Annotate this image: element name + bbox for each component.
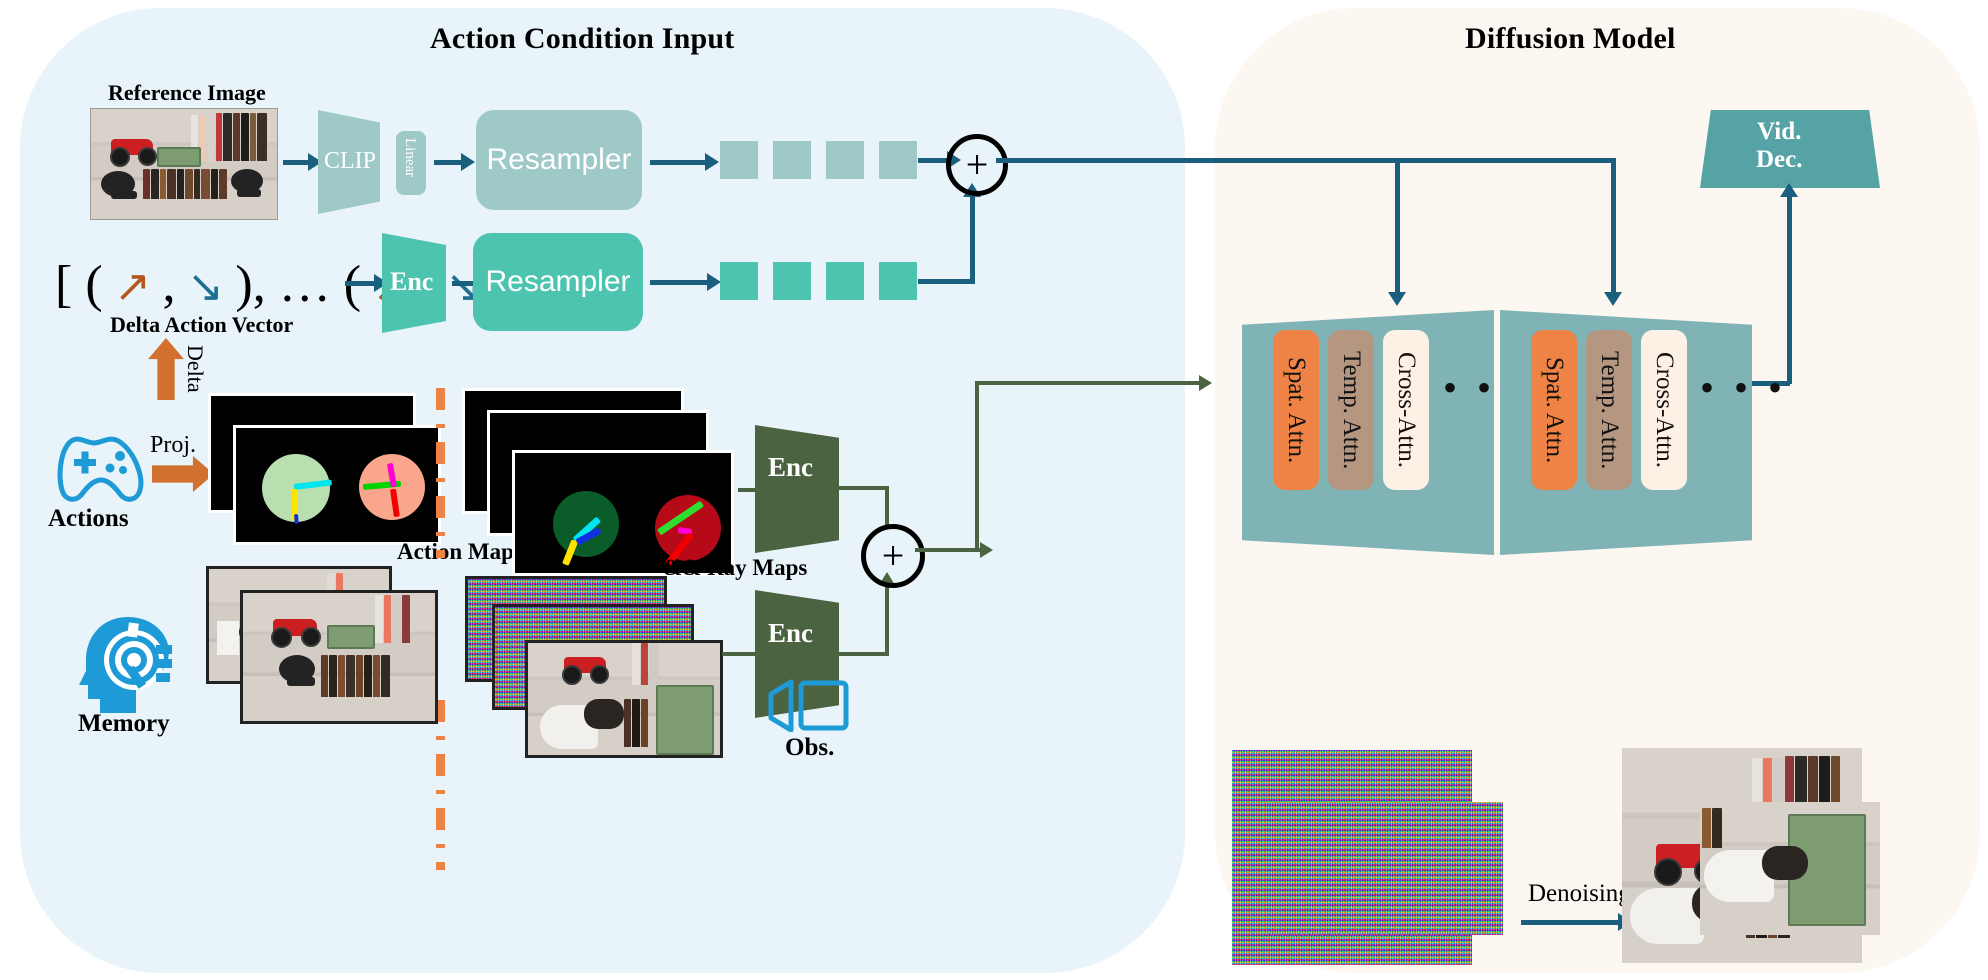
image-token-4 (879, 141, 917, 179)
attn-temporal-2: Temp. Attn. (1586, 330, 1632, 490)
denoise-input-front (1263, 802, 1503, 935)
attn-temporal-1: Temp. Attn. (1328, 330, 1374, 490)
line-raymapenc-down (885, 486, 889, 528)
line-obsenc-up (885, 628, 889, 656)
arrow-linear-to-resampler (434, 160, 462, 165)
sum-operator-top: + (946, 134, 1008, 196)
raymap-encoder-block (755, 425, 839, 553)
attn-cross-1: Cross-Attn. (1383, 330, 1429, 490)
action-token-2 (773, 262, 811, 300)
obs-label: Obs. (785, 734, 834, 762)
sum-operator-bottom: + (861, 524, 925, 588)
right-panel-title: Diffusion Model (1465, 22, 1676, 56)
arrow-refimage-to-clip (283, 160, 309, 165)
arrow-sum-bottom-to-unet (915, 548, 981, 552)
arrow-resampler-to-tokens-action (650, 280, 708, 285)
dashed-separator-top (436, 388, 445, 558)
image-token-1 (720, 141, 758, 179)
cond-bus-horizontal (996, 158, 1616, 163)
arrow-denoising (1521, 920, 1619, 925)
image-token-2 (773, 141, 811, 179)
action-token-3 (826, 262, 864, 300)
dashed-separator-bottom (436, 700, 445, 870)
unet-ellipsis-2: • • • (1700, 368, 1787, 408)
left-panel-title: Action Condition Input (430, 22, 735, 56)
video-decoder-line1: Vid. (1756, 118, 1803, 146)
enc-obs-label: Enc (768, 618, 813, 649)
arrow-to-unet-input (975, 381, 1200, 385)
obs-image-front (525, 640, 723, 758)
action-stick-left-blue (294, 514, 299, 524)
action-token-1 (720, 262, 758, 300)
clip-label: CLIP (324, 148, 376, 175)
arrow-vector-to-enc (345, 281, 375, 286)
arrow-cond-to-crossattn-2 (1611, 163, 1616, 293)
denoise-output-front (1700, 802, 1880, 935)
enc-action-label: Enc (390, 267, 433, 297)
sum-bottom-glyph: + (882, 536, 905, 576)
attn-spatial-2-label: Spat. Attn. (1540, 357, 1568, 463)
attn-spatial-1: Spat. Attn. (1273, 330, 1319, 490)
attn-spatial-2: Spat. Attn. (1531, 330, 1577, 490)
memory-head-icon (78, 615, 182, 715)
image-token-3 (826, 141, 864, 179)
ray-maps-label: && Ray Maps (663, 555, 807, 581)
enc-raymap-label: Enc (768, 452, 813, 483)
line-sumbottom-up (975, 383, 979, 550)
action-map-front (233, 425, 441, 545)
denoising-label: Denoising (1528, 880, 1631, 908)
attn-cross-1-label: Cross-Attn. (1392, 352, 1420, 468)
memory-image-front (240, 590, 438, 724)
attn-temporal-2-label: Temp. Attn. (1595, 351, 1623, 469)
linear-label: Linear (401, 138, 418, 177)
resampler-action-label: Resampler (485, 265, 630, 299)
resampler-image-label: Resampler (486, 143, 631, 177)
camera-icon (765, 678, 851, 732)
resampler-action-block: Resampler (473, 233, 643, 331)
arrow-resampler-to-tokens-image (650, 160, 706, 165)
arrow-tokens-to-sum-top (918, 158, 948, 163)
video-decoder-label: Vid. Dec. (1756, 118, 1803, 174)
line-actiontokens-right (918, 279, 975, 284)
attn-temporal-1-label: Temp. Attn. (1337, 351, 1365, 469)
reference-image (90, 108, 278, 220)
action-token-4 (879, 262, 917, 300)
line-obsenc-right (833, 652, 889, 656)
attn-cross-2-label: Cross-Attn. (1650, 352, 1678, 468)
resampler-image-block: Resampler (476, 110, 642, 210)
attn-spatial-1-label: Spat. Attn. (1282, 357, 1310, 463)
video-decoder-line2: Dec. (1756, 146, 1803, 174)
memory-label: Memory (78, 710, 170, 738)
proj-label: Proj. (150, 432, 196, 459)
arrow-obsenc-to-sum-bottom (885, 584, 889, 630)
delta-action-vector-label: Delta Action Vector (110, 312, 293, 338)
reference-image-label: Reference Image (108, 80, 266, 106)
line-raymapenc-right (833, 486, 889, 490)
action-maps-label: Action Maps (397, 539, 523, 565)
sum-top-glyph: + (966, 145, 989, 185)
attn-cross-2: Cross-Attn. (1641, 330, 1687, 490)
arrow-unet-to-viddec (1787, 196, 1792, 384)
gamepad-icon (48, 434, 154, 504)
actions-label: Actions (48, 505, 129, 533)
arrow-actiontokens-to-sum-top (970, 196, 975, 282)
delta-label: Delta (182, 345, 208, 393)
arrow-cond-to-crossattn-1 (1395, 163, 1400, 293)
